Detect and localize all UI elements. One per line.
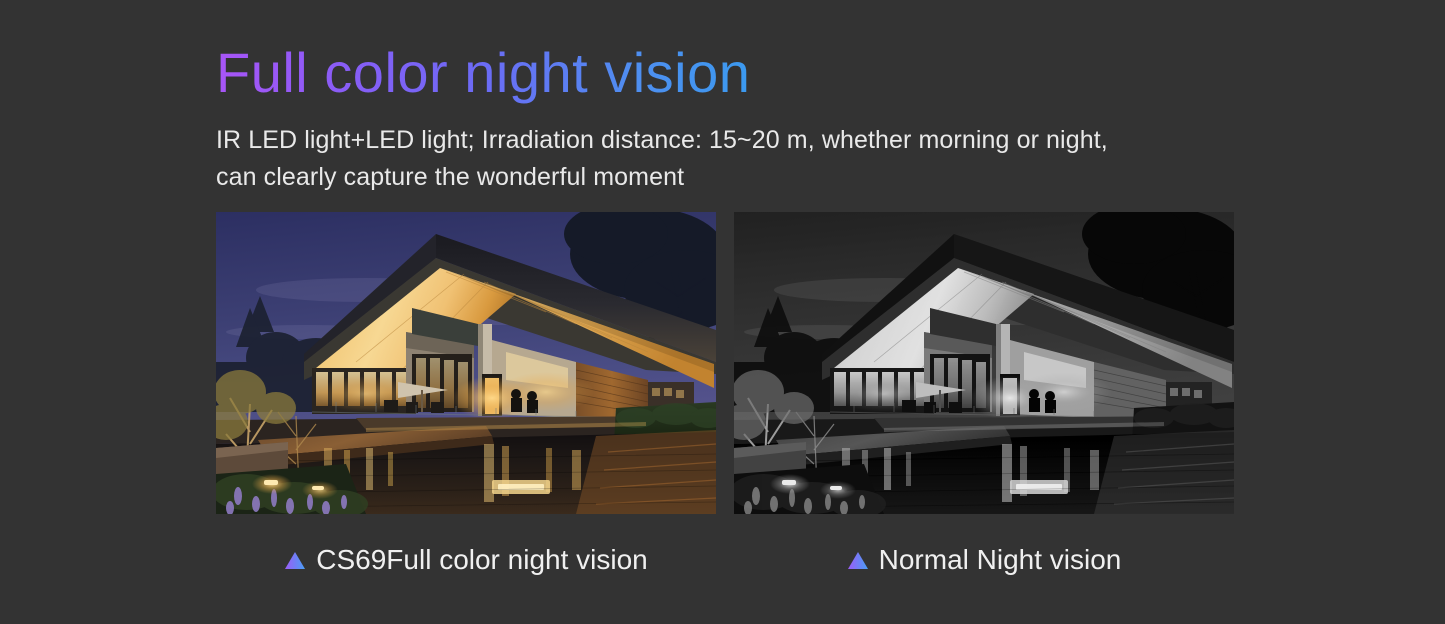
triangle-up-icon	[284, 551, 306, 570]
caption-normal-night: Normal Night vision	[734, 534, 1234, 586]
subtitle-line-2: can clearly capture the wonderful moment	[216, 159, 1226, 196]
caption-full-color: CS69Full color night vision	[216, 534, 716, 586]
subtitle-line-1: IR LED light+LED light; Irradiation dist…	[216, 122, 1226, 159]
caption-full-color-label: CS69Full color night vision	[316, 544, 648, 576]
night-vision-promo-page: Full color night vision IR LED light+LED…	[0, 0, 1445, 624]
photo-full-color	[216, 212, 716, 514]
page-title: Full color night vision	[216, 38, 750, 108]
page-subtitle: IR LED light+LED light; Irradiation dist…	[216, 122, 1226, 196]
triangle-up-icon	[847, 551, 869, 570]
photo-normal-night-vision	[734, 212, 1234, 514]
photo-captions: CS69Full color night vision Normal Night…	[216, 534, 1232, 586]
comparison-photos	[216, 212, 1232, 514]
caption-normal-night-label: Normal Night vision	[879, 544, 1122, 576]
